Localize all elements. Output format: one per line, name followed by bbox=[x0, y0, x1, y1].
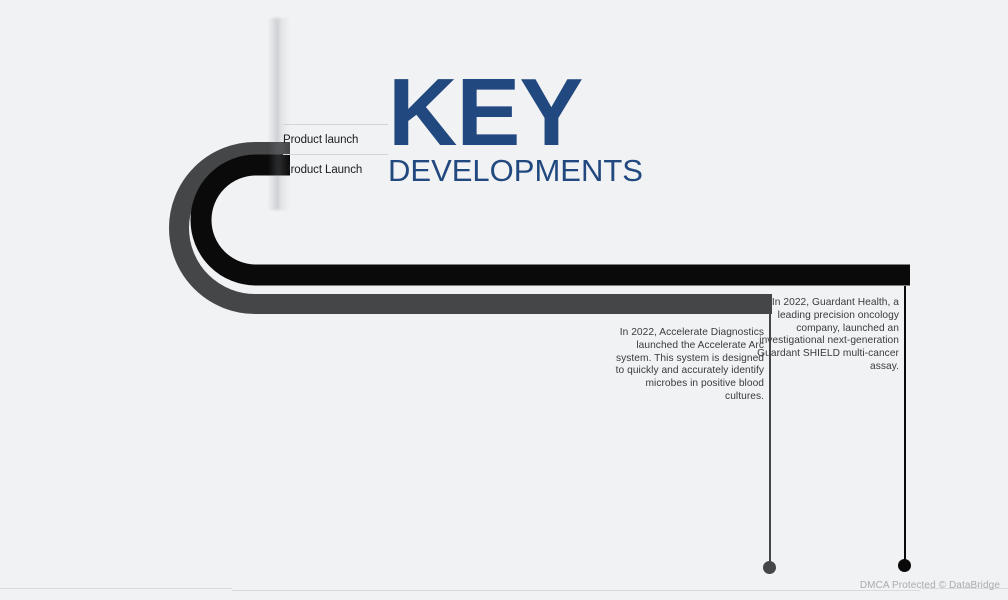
footer-divider-center bbox=[232, 590, 920, 591]
event-description-2: In 2022, Guardant Health, a leading prec… bbox=[757, 297, 899, 374]
event-connector-line-2 bbox=[904, 286, 906, 564]
legend: Product launch Product Launch bbox=[283, 124, 391, 184]
title-subtitle-text: DEVELOPMENTS bbox=[388, 154, 643, 188]
infographic-canvas: Product launch Product Launch KEY DEVELO… bbox=[0, 0, 1008, 600]
legend-item-product-launch-2[interactable]: Product Launch bbox=[283, 155, 391, 184]
title-main-text: KEY bbox=[388, 70, 643, 156]
event-marker-dot-2[interactable] bbox=[898, 559, 911, 572]
event-description-1: In 2022, Accelerate Diagnostics launched… bbox=[612, 327, 764, 404]
legend-item-label: Product launch bbox=[283, 134, 358, 146]
footer-divider-left bbox=[0, 588, 232, 589]
watermark-text: DMCA Protected © DataBridge bbox=[860, 580, 1000, 591]
event-marker-dot-1[interactable] bbox=[763, 561, 776, 574]
legend-item-label: Product Launch bbox=[283, 164, 362, 176]
legend-item-product-launch-1[interactable]: Product launch bbox=[283, 125, 391, 154]
page-title: KEY DEVELOPMENTS bbox=[388, 70, 643, 188]
